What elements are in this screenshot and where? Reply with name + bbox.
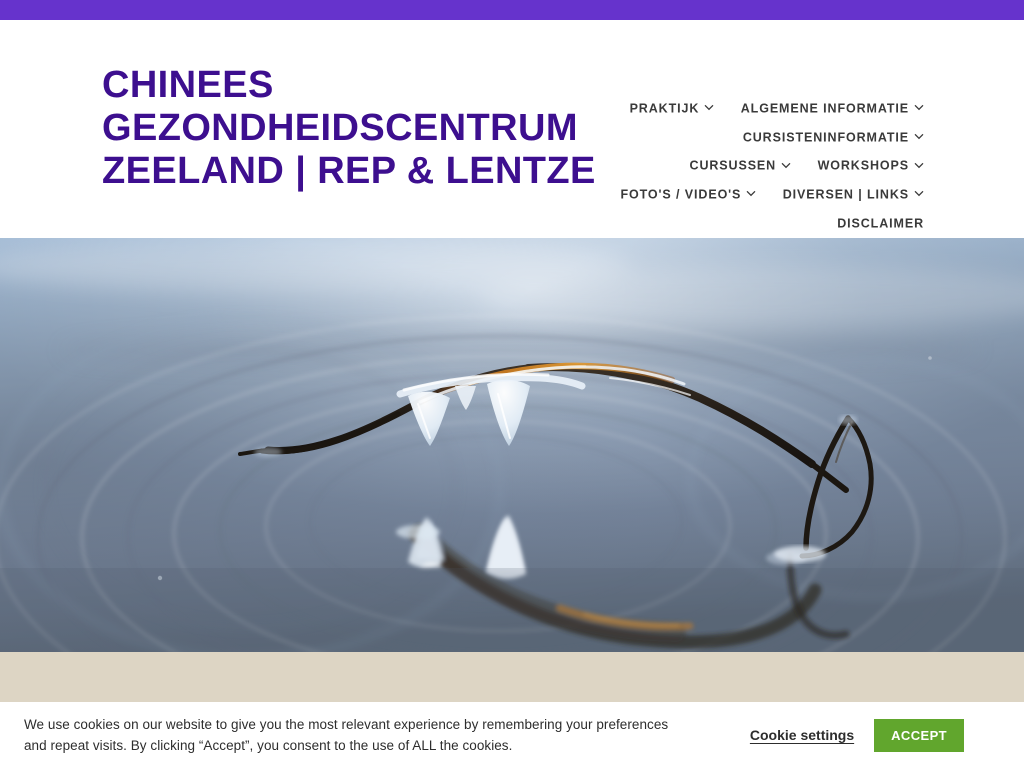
nav-item-praktijk[interactable]: PRAKTIJK [630, 94, 715, 123]
nav-item-label: PRAKTIJK [630, 102, 700, 116]
nav-list: PRAKTIJK ALGEMENE INFORMATIE CURSISTENIN… [594, 94, 924, 238]
nav-item-label: CURSISTENINFORMATIE [743, 130, 909, 144]
nav-item-label: DIVERSEN | LINKS [783, 188, 909, 202]
nav-item-label: CURSUSSEN [690, 159, 777, 173]
hero-image [0, 238, 1024, 652]
content-strip [0, 652, 1024, 702]
chevron-down-icon [746, 190, 756, 197]
chevron-down-icon [914, 162, 924, 169]
nav-item-cursussen[interactable]: CURSUSSEN [690, 151, 792, 180]
nav-item-workshops[interactable]: WORKSHOPS [818, 151, 924, 180]
nav-item-fotos-videos[interactable]: FOTO'S / VIDEO'S [620, 180, 756, 209]
chevron-down-icon [914, 190, 924, 197]
nav-item-diversen-links[interactable]: DIVERSEN | LINKS [783, 180, 924, 209]
nav-item-label: FOTO'S / VIDEO'S [620, 188, 741, 202]
hero-illustration [0, 238, 1024, 652]
nav-item-label: DISCLAIMER [837, 217, 924, 231]
chevron-down-icon [914, 133, 924, 140]
nav-item-algemene-informatie[interactable]: ALGEMENE INFORMATIE [741, 94, 924, 123]
cookie-settings-link[interactable]: Cookie settings [750, 727, 854, 743]
cookie-actions: Cookie settings ACCEPT [750, 719, 1000, 752]
nav-item-cursisteninformatie[interactable]: CURSISTENINFORMATIE [743, 123, 924, 152]
nav-item-label: ALGEMENE INFORMATIE [741, 102, 909, 116]
chevron-down-icon [914, 104, 924, 111]
site-header: CHINEES GEZONDHEIDSCENTRUM ZEELAND | REP… [0, 20, 1024, 238]
cookie-consent-message: We use cookies on our website to give yo… [24, 714, 684, 756]
accept-cookies-button[interactable]: ACCEPT [874, 719, 964, 752]
nav-item-label: WORKSHOPS [818, 159, 909, 173]
nav-item-disclaimer[interactable]: DISCLAIMER [837, 209, 924, 238]
main-navigation: PRAKTIJK ALGEMENE INFORMATIE CURSISTENIN… [594, 94, 924, 238]
chevron-down-icon [704, 104, 714, 111]
chevron-down-icon [781, 162, 791, 169]
site-title[interactable]: CHINEES GEZONDHEIDSCENTRUM ZEELAND | REP… [102, 64, 602, 193]
top-accent-bar [0, 0, 1024, 20]
cookie-consent-banner: We use cookies on our website to give yo… [0, 702, 1024, 768]
